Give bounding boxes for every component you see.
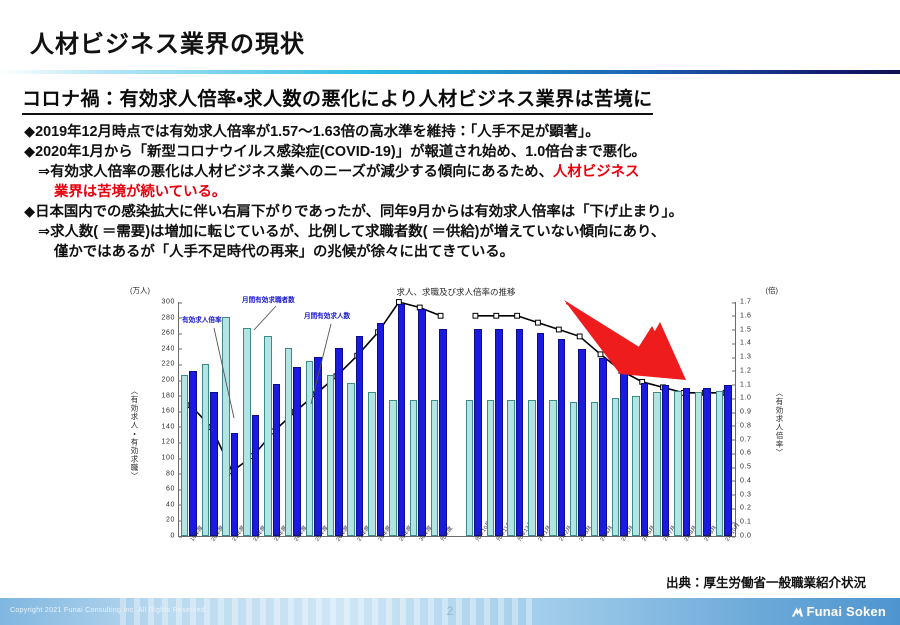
y-tick-left: 20 xyxy=(166,517,179,524)
ratio-marker xyxy=(577,334,582,339)
bar-seekers xyxy=(716,391,724,536)
bar-openings xyxy=(495,329,503,536)
bullet-item: ⇒求人数( ＝需要)は増加に転じているが、比例して求職者数( ＝供給)が増えてい… xyxy=(24,222,890,242)
ratio-marker xyxy=(473,313,478,318)
bar-seekers xyxy=(507,400,515,537)
y-tick-left: 40 xyxy=(166,501,179,508)
bar-seekers xyxy=(591,402,599,536)
y-axis-label-right: 〈有効求人倍率〉 xyxy=(773,378,784,468)
ratio-marker xyxy=(515,313,520,318)
bullet-marker: ◆ xyxy=(24,204,35,220)
bar-seekers xyxy=(612,398,620,536)
bar-seekers xyxy=(202,364,210,536)
y-tick-left: 120 xyxy=(162,439,179,446)
chart-unit-right: (倍) xyxy=(766,285,779,296)
y-tick-left: 220 xyxy=(162,361,179,368)
y-tick-right: 0.4 xyxy=(735,477,752,484)
bullet-text: 日本国内での感染拡大に伴い右肩下がりであったが、同年9月からは有効求人倍率は「下… xyxy=(35,204,683,220)
y-tick-left: 60 xyxy=(166,486,179,493)
header-divider xyxy=(0,70,900,74)
callout-openings: 月間有効求人数 xyxy=(304,310,350,320)
y-tick-left: 80 xyxy=(166,470,179,477)
bar-openings xyxy=(189,371,197,536)
bar-openings xyxy=(210,392,218,536)
bullet-item: ◆2020年1月から「新型コロナウイルス感染症(COVID-19)」が報道され始… xyxy=(24,142,890,162)
bullet-list: ◆2019年12月時点では有効求人倍率が1.57～1.63倍の高水準を維持：「人… xyxy=(24,122,890,262)
y-tick-right: 1.0 xyxy=(735,395,752,402)
bullet-marker: ◆ xyxy=(24,124,35,140)
bar-openings xyxy=(273,384,281,536)
bar-openings xyxy=(599,358,607,536)
bar-openings xyxy=(474,329,482,536)
bullet-text: 2020年1月から「新型コロナウイルス感染症(COVID-19)」が報道され始め… xyxy=(35,144,646,160)
bar-seekers xyxy=(653,392,661,536)
y-tick-right: 0.5 xyxy=(735,464,752,471)
source-note: 出典：厚生労働省一般職業紹介状況 xyxy=(666,572,866,591)
y-tick-right: 1.3 xyxy=(735,354,752,361)
bar-openings xyxy=(377,323,385,536)
bullet-highlight: 人材ビジネス xyxy=(553,164,639,180)
bullet-highlight: 業界は苦境が続いている。 xyxy=(54,184,226,200)
bar-openings xyxy=(231,433,239,536)
y-tick-left: 140 xyxy=(162,423,179,430)
y-tick-left: 160 xyxy=(162,408,179,415)
bar-seekers xyxy=(306,361,314,536)
ratio-marker xyxy=(536,320,541,325)
brand-name: Funai Soken xyxy=(807,604,887,619)
ratio-marker xyxy=(494,313,499,318)
y-axis-label-left: 〈有効求人・有効求職〉 xyxy=(128,374,139,494)
bar-seekers xyxy=(243,328,251,536)
bullet-item: 僅かではあるが「人手不足時代の再来」の兆候が徐々に出てきている。 xyxy=(24,242,890,262)
bar-openings xyxy=(418,309,426,536)
y-tick-right: 1.1 xyxy=(735,381,752,388)
bar-seekers xyxy=(632,396,640,536)
page-title: 人材ビジネス業界の現状 xyxy=(30,24,305,59)
bar-seekers xyxy=(549,400,557,537)
bullet-item: 業界は苦境が続いている。 xyxy=(24,182,890,202)
bar-seekers xyxy=(181,375,189,536)
callout-ratio: 有効求人倍率 xyxy=(182,314,222,324)
y-tick-left: 100 xyxy=(162,455,179,462)
bar-openings xyxy=(641,383,649,536)
bar-seekers xyxy=(327,375,335,536)
bullet-marker: ◆ xyxy=(24,144,35,160)
y-tick-right: 0.0 xyxy=(735,533,752,540)
bullet-item: ◆日本国内での感染拡大に伴い右肩下がりであったが、同年9月からは有効求人倍率は「… xyxy=(24,202,890,222)
bar-seekers xyxy=(528,400,536,537)
bullet-item: ⇒有効求人倍率の悪化は人材ビジネス業へのニーズが減少する傾向にあるため、人材ビジ… xyxy=(24,162,890,182)
funai-mark-icon xyxy=(791,605,804,619)
bullet-text: 求人数( ＝需要)は増加に転じているが、比例して求職者数( ＝供給)が増えていな… xyxy=(50,224,665,240)
y-tick-left: 260 xyxy=(162,330,179,337)
bar-openings xyxy=(398,304,406,536)
bullet-item: ◆2019年12月時点では有効求人倍率が1.57～1.63倍の高水準を維持：「人… xyxy=(24,122,890,142)
bar-openings xyxy=(335,348,343,536)
y-tick-right: 0.8 xyxy=(735,422,752,429)
bar-openings xyxy=(724,385,732,536)
bar-seekers xyxy=(487,400,495,537)
chart-unit-left: (万人) xyxy=(130,285,150,296)
bar-openings xyxy=(683,388,691,536)
y-tick-right: 1.2 xyxy=(735,367,752,374)
lead-headline: コロナ禍：有効求人倍率・求人数の悪化により人材ビジネス業界は苦境に xyxy=(22,84,653,115)
y-tick-left: 240 xyxy=(162,345,179,352)
y-tick-left: 300 xyxy=(162,299,179,306)
ratio-marker xyxy=(598,352,603,357)
y-tick-right: 1.6 xyxy=(735,312,752,319)
bar-openings xyxy=(293,367,301,536)
bar-openings xyxy=(703,388,711,536)
y-tick-right: 1.7 xyxy=(735,299,752,306)
y-tick-right: 0.9 xyxy=(735,409,752,416)
y-tick-right: 0.3 xyxy=(735,491,752,498)
bar-seekers xyxy=(347,383,355,536)
y-tick-right: 0.7 xyxy=(735,436,752,443)
y-tick-left: 0 xyxy=(171,533,180,540)
bar-seekers xyxy=(466,400,474,537)
y-tick-left: 180 xyxy=(162,392,179,399)
bar-openings xyxy=(537,333,545,536)
bar-seekers xyxy=(264,336,272,536)
bar-seekers xyxy=(410,400,418,537)
slide-footer: Copyright 2021 Funai Consulting Inc. All… xyxy=(0,598,900,625)
bar-seekers xyxy=(674,391,682,536)
bar-openings xyxy=(516,329,524,536)
bullet-text: 僅かではあるが「人手不足時代の再来」の兆候が徐々に出てきている。 xyxy=(54,244,514,260)
y-tick-right: 0.2 xyxy=(735,505,752,512)
y-tick-right: 1.4 xyxy=(735,340,752,347)
bar-openings xyxy=(558,339,566,536)
ratio-marker xyxy=(556,327,561,332)
plot-area: 0204060801001201401601802002202402602803… xyxy=(178,302,736,537)
chart-container: 求人、求職及び求人倍率の推移 (万人) (倍) 〈有効求人・有効求職〉 〈有効求… xyxy=(126,286,786,571)
brand-logo: Funai Soken xyxy=(791,604,887,619)
bar-openings xyxy=(356,336,364,536)
y-tick-left: 200 xyxy=(162,377,179,384)
page-number: 2 xyxy=(0,604,900,618)
bar-openings xyxy=(620,372,628,536)
ratio-marker xyxy=(438,313,443,318)
y-tick-left: 280 xyxy=(162,314,179,321)
chart-title: 求人、求職及び求人倍率の推移 xyxy=(126,286,786,298)
bar-openings xyxy=(252,415,260,536)
bar-seekers xyxy=(222,317,230,536)
y-tick-right: 0.6 xyxy=(735,450,752,457)
bullet-marker: ⇒ xyxy=(38,224,50,240)
bar-seekers xyxy=(570,402,578,536)
bar-seekers xyxy=(368,392,376,536)
callout-seekers: 月間有効求職者数 xyxy=(242,294,295,304)
bar-seekers xyxy=(285,348,293,536)
bar-seekers xyxy=(431,400,439,537)
bullet-text: 有効求人倍率の悪化は人材ビジネス業へのニーズが減少する傾向にあるため、 xyxy=(50,164,553,180)
bullet-marker: ⇒ xyxy=(38,164,50,180)
bar-openings xyxy=(314,357,322,536)
y-tick-right: 1.5 xyxy=(735,326,752,333)
ratio-line-series xyxy=(179,302,735,536)
bullet-text: 2019年12月時点では有効求人倍率が1.57～1.63倍の高水準を維持：「人手… xyxy=(35,124,600,140)
bar-openings xyxy=(439,329,447,536)
bar-seekers xyxy=(695,392,703,536)
bar-openings xyxy=(662,385,670,536)
bar-openings xyxy=(578,349,586,536)
bar-seekers xyxy=(389,400,397,537)
